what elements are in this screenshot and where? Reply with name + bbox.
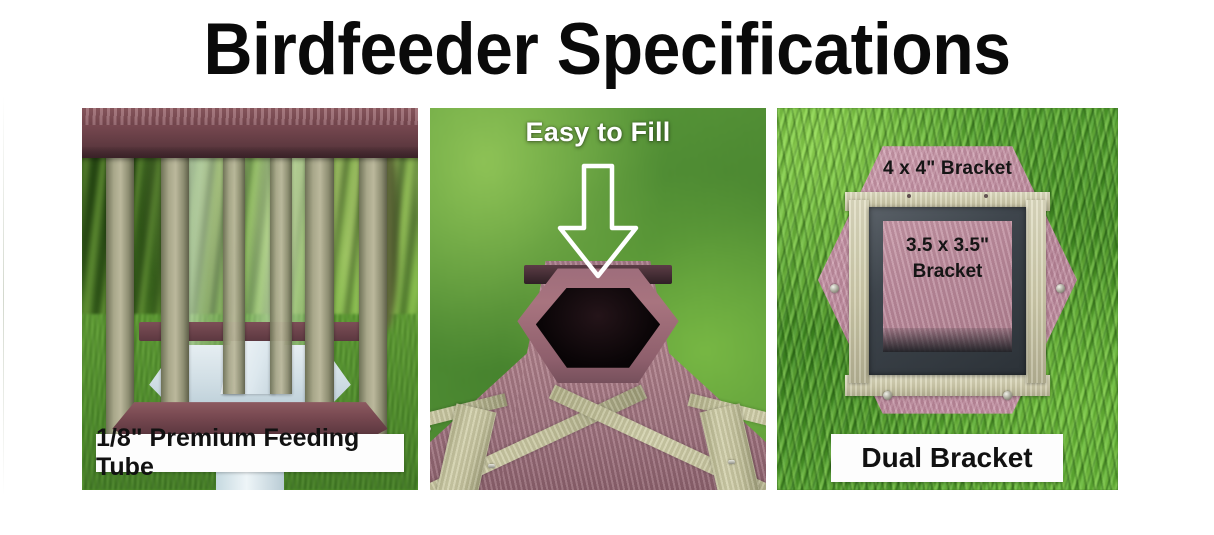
panel-dual-bracket[interactable]: 4 x 4" Bracket 3.5 x 3.5" Bracket Dual B… — [777, 108, 1118, 490]
feeder-post — [106, 154, 134, 444]
roof-edge — [82, 147, 418, 158]
caption-premium-feeding-tube: 1/8" Premium Feeding Tube — [96, 434, 404, 472]
inner-bracket-label-line2: Bracket — [777, 259, 1118, 285]
page-title: Birdfeeder Specifications — [42, 4, 1171, 96]
feeder-roof — [82, 108, 418, 158]
easy-to-fill-label: Easy to Fill — [430, 117, 766, 148]
feeder-post — [305, 158, 333, 425]
left-edge-artifact — [3, 96, 4, 496]
panel-premium-feeding-tube[interactable]: 1/8" Premium Feeding Tube — [82, 108, 418, 490]
roof-screw — [728, 460, 735, 464]
outer-bracket-label: 4 x 4" Bracket — [777, 158, 1118, 180]
plate-screw — [883, 391, 892, 400]
bracket-bar-right — [1026, 200, 1046, 383]
bracket-bar-bottom — [845, 375, 1050, 396]
plate-screw — [1003, 391, 1012, 400]
plate-hole — [907, 194, 911, 198]
plate-screw — [830, 284, 839, 293]
feeder-post — [223, 158, 245, 395]
inner-bracket-label: 3.5 x 3.5" Bracket — [777, 233, 1118, 285]
roof-screw — [430, 427, 431, 431]
roof-highlight — [82, 108, 418, 125]
bracket-bar-left — [849, 200, 869, 383]
feeder-post — [359, 154, 387, 444]
feeder-post — [161, 158, 189, 425]
caption-dual-bracket: Dual Bracket — [831, 434, 1063, 482]
feeder-post — [270, 158, 292, 395]
bracket-socket-shadow — [883, 328, 1012, 352]
plate-screw — [1056, 284, 1065, 293]
panel-easy-to-fill[interactable]: Easy to Fill — [430, 108, 766, 490]
inner-bracket-label-line1: 3.5 x 3.5" — [777, 233, 1118, 259]
down-arrow-icon — [556, 162, 640, 287]
